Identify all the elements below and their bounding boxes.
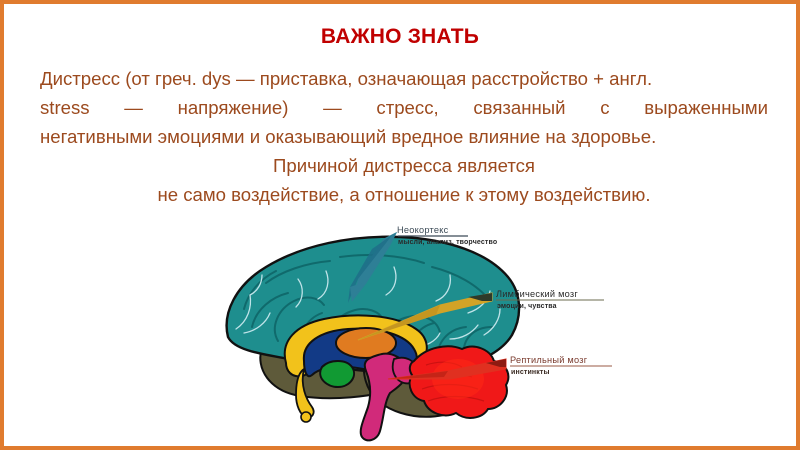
callout-title-limbic: Лимбический мозг: [496, 289, 578, 299]
body-copy: Дистресс (от греч. dys — приставка, озна…: [40, 64, 768, 209]
body-line-1: Дистресс (от греч. dys — приставка, озна…: [40, 64, 768, 93]
callout-subtitle-reptilian: инстинкты: [511, 369, 550, 376]
body-line-4: Причиной дистресса является: [40, 151, 768, 180]
callout-title-neocortex: Неокортекс: [397, 225, 449, 235]
body-line-3: негативными эмоциями и оказывающий вредн…: [40, 122, 768, 151]
body-line-2: stress — напряжение) — стресс, связанный…: [40, 93, 768, 122]
callout-subtitle-neocortex: мысли, анализ, творчество: [398, 239, 497, 246]
body-line-5: не само воздействие, а отношение к этому…: [40, 180, 768, 209]
page-title: ВАЖНО ЗНАТЬ: [4, 25, 796, 49]
brain-part-green-nucleus: [320, 361, 354, 387]
callout-subtitle-limbic: эмоции, чувства: [497, 303, 557, 310]
callout-title-reptilian: Рептильный мозг: [510, 355, 588, 365]
slide-root: ВАЖНО ЗНАТЬ Дистресс (от греч. dys — при…: [0, 0, 800, 450]
triune-brain-diagram: Неокортекс мысли, анализ, творчество Лим…: [200, 209, 620, 444]
